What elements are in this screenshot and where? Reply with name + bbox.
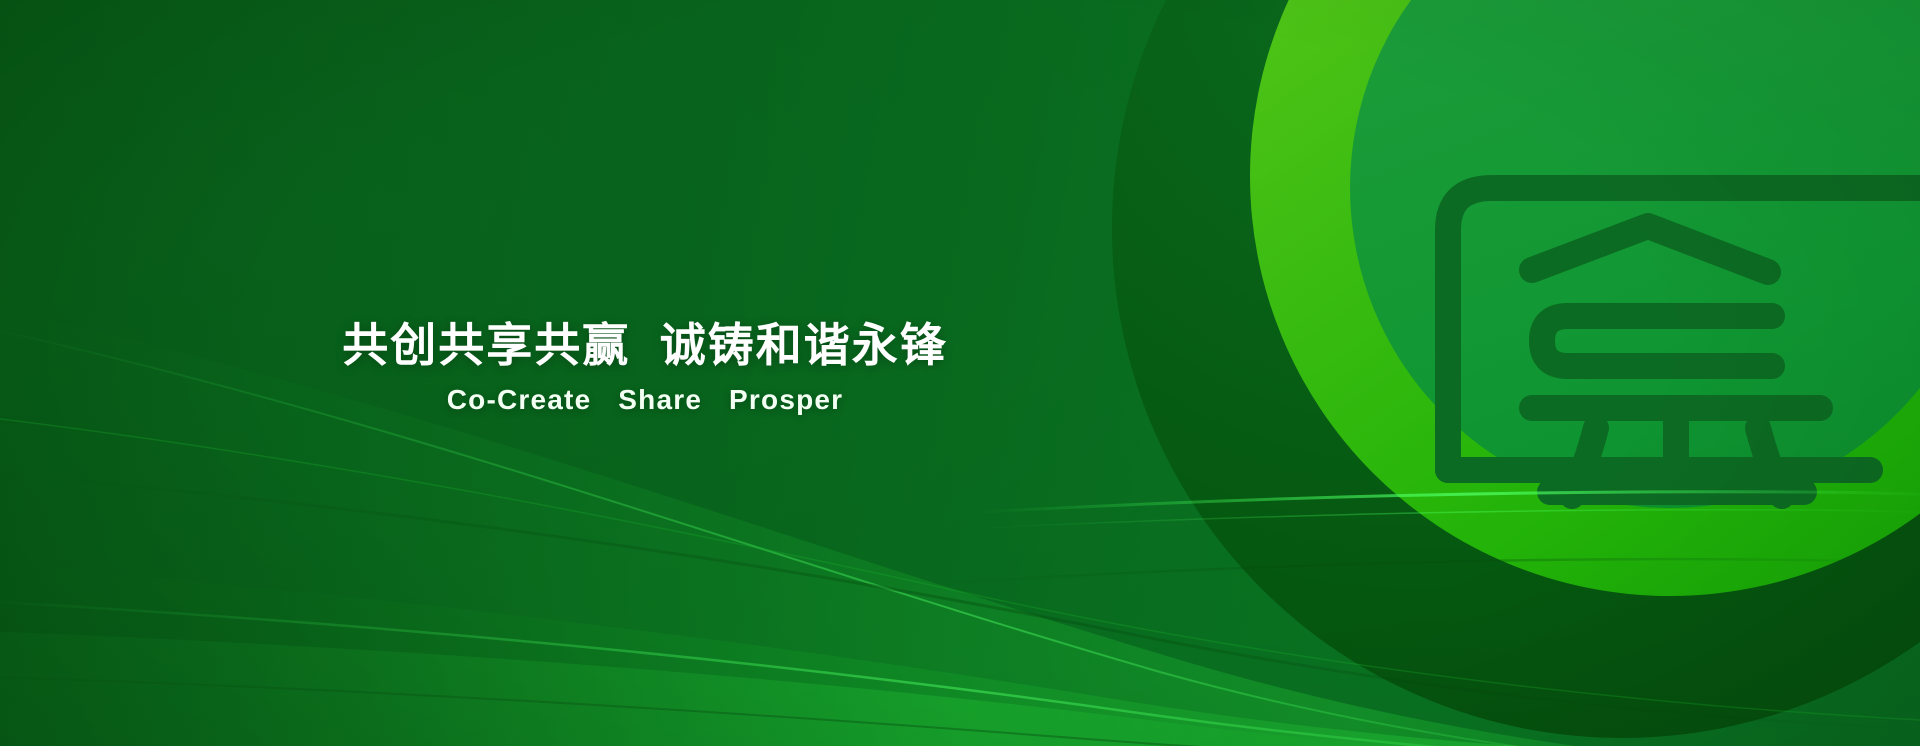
- page-subtitle: Co-Create Share Prosper: [0, 384, 1290, 416]
- page-title: 共创共享共赢 诚铸和谐永锋: [0, 318, 1290, 372]
- promotional-banner: 共创共享共赢 诚铸和谐永锋 Co-Create Share Prosper: [0, 0, 1920, 746]
- slogan-text-block: 共创共享共赢 诚铸和谐永锋 Co-Create Share Prosper: [0, 318, 1290, 416]
